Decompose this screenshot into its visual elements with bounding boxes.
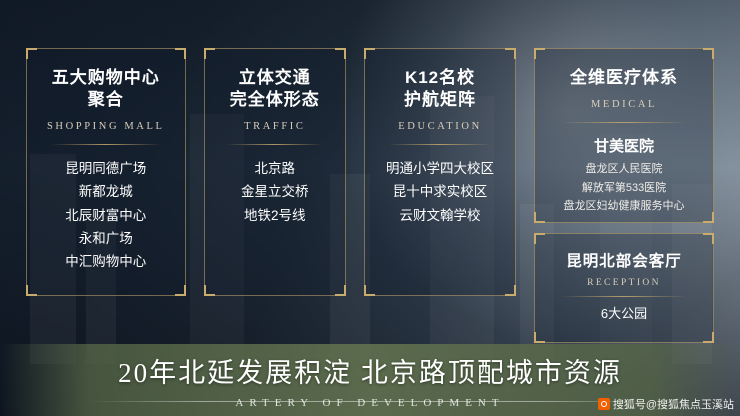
corner-ornament-icon	[505, 285, 516, 296]
list-item: 解放军第533医院	[543, 179, 705, 198]
list-item: 昆明同德广场	[35, 157, 177, 180]
card-divider	[561, 122, 687, 123]
list-item: 北辰财富中心	[35, 204, 177, 227]
card-divider	[388, 144, 492, 145]
card-item-list: 6大公园	[543, 303, 705, 325]
card-title-line1: 五大购物中心	[35, 67, 177, 89]
card-title: 五大购物中心 聚合	[35, 67, 177, 111]
corner-ornament-icon	[703, 212, 714, 223]
corner-ornament-icon	[534, 332, 545, 343]
corner-ornament-icon	[26, 48, 37, 59]
card-title-line2: 护航矩阵	[373, 89, 507, 111]
banner-rule	[90, 401, 650, 402]
list-item: 新都龙城	[35, 180, 177, 203]
feature-cards-row: 五大购物中心 聚合 SHOPPING MALL 昆明同德广场 新都龙城 北辰财富…	[26, 48, 714, 343]
list-item: 金星立交桥	[213, 180, 338, 203]
corner-ornament-icon	[364, 285, 375, 296]
watermark-text: 搜狐号@搜狐焦点玉溪站	[613, 396, 734, 412]
card-shopping-mall: 五大购物中心 聚合 SHOPPING MALL 昆明同德广场 新都龙城 北辰财富…	[26, 48, 186, 296]
card-education: K12名校 护航矩阵 EDUCATION 明通小学四大校区 昆十中求实校区 云财…	[364, 48, 516, 296]
card-title: 立体交通 完全体形态	[213, 67, 338, 111]
card-title: 昆明北部会客厅	[543, 252, 705, 272]
corner-ornament-icon	[534, 233, 545, 244]
card-item-list: 北京路 金星立交桥 地铁2号线	[213, 157, 338, 227]
list-item: 地铁2号线	[213, 204, 338, 227]
card-divider	[51, 144, 161, 145]
banner-subheadline: ARTERY OF DEVELOPMENT	[235, 397, 504, 409]
card-subtitle: EDUCATION	[373, 121, 507, 132]
corner-ornament-icon	[703, 332, 714, 343]
banner-headline: 20年北延发展积淀 北京路顶配城市资源	[118, 351, 622, 390]
list-item: 北京路	[213, 157, 338, 180]
corner-ornament-icon	[204, 285, 215, 296]
card-traffic: 立体交通 完全体形态 TRAFFIC 北京路 金星立交桥 地铁2号线	[204, 48, 347, 296]
card-highlight: 甘美医院	[543, 135, 705, 156]
corner-ornament-icon	[175, 48, 186, 59]
list-item: 云财文翰学校	[373, 204, 507, 227]
card-column-right: 全维医疗体系 MEDICAL 甘美医院 盘龙区人民医院 解放军第533医院 盘龙…	[534, 48, 714, 343]
card-medical: 全维医疗体系 MEDICAL 甘美医院 盘龙区人民医院 解放军第533医院 盘龙…	[534, 48, 714, 223]
list-item: 盘龙区妇幼健康服务中心	[543, 197, 705, 216]
corner-ornament-icon	[335, 48, 346, 59]
list-item: 永和广场	[35, 227, 177, 250]
corner-ornament-icon	[505, 48, 516, 59]
list-item: 明通小学四大校区	[373, 157, 507, 180]
card-title-line1: 全维医疗体系	[543, 67, 705, 89]
card-divider	[561, 296, 687, 297]
card-item-list: 明通小学四大校区 昆十中求实校区 云财文翰学校	[373, 157, 507, 227]
card-reception: 昆明北部会客厅 RECEPTION 6大公园	[534, 233, 714, 343]
card-title: K12名校 护航矩阵	[373, 67, 507, 111]
card-divider	[226, 144, 323, 145]
sohu-logo-icon	[598, 398, 610, 410]
corner-ornament-icon	[175, 285, 186, 296]
card-title-line1: K12名校	[373, 67, 507, 89]
card-title-line2: 聚合	[35, 89, 177, 111]
card-title: 全维医疗体系	[543, 67, 705, 89]
corner-ornament-icon	[534, 48, 545, 59]
corner-ornament-icon	[703, 48, 714, 59]
card-title-line1: 立体交通	[213, 67, 338, 89]
card-subtitle: TRAFFIC	[213, 121, 338, 132]
card-subtitle: MEDICAL	[543, 99, 705, 110]
list-item: 中汇购物中心	[35, 250, 177, 273]
watermark: 搜狐号@搜狐焦点玉溪站	[598, 396, 734, 412]
corner-ornament-icon	[335, 285, 346, 296]
card-title-line1: 昆明北部会客厅	[543, 252, 705, 272]
corner-ornament-icon	[26, 285, 37, 296]
list-item: 6大公园	[543, 303, 705, 325]
corner-ornament-icon	[204, 48, 215, 59]
card-subtitle: SHOPPING MALL	[35, 121, 177, 132]
card-item-list: 盘龙区人民医院 解放军第533医院 盘龙区妇幼健康服务中心	[543, 160, 705, 216]
list-item: 盘龙区人民医院	[543, 160, 705, 179]
card-title-line2: 完全体形态	[213, 89, 338, 111]
card-item-list: 昆明同德广场 新都龙城 北辰财富中心 永和广场 中汇购物中心	[35, 157, 177, 273]
corner-ornament-icon	[703, 233, 714, 244]
corner-ornament-icon	[534, 212, 545, 223]
corner-ornament-icon	[364, 48, 375, 59]
card-subtitle: RECEPTION	[543, 278, 705, 288]
slide-background: 五大购物中心 聚合 SHOPPING MALL 昆明同德广场 新都龙城 北辰财富…	[0, 0, 740, 416]
list-item: 昆十中求实校区	[373, 180, 507, 203]
